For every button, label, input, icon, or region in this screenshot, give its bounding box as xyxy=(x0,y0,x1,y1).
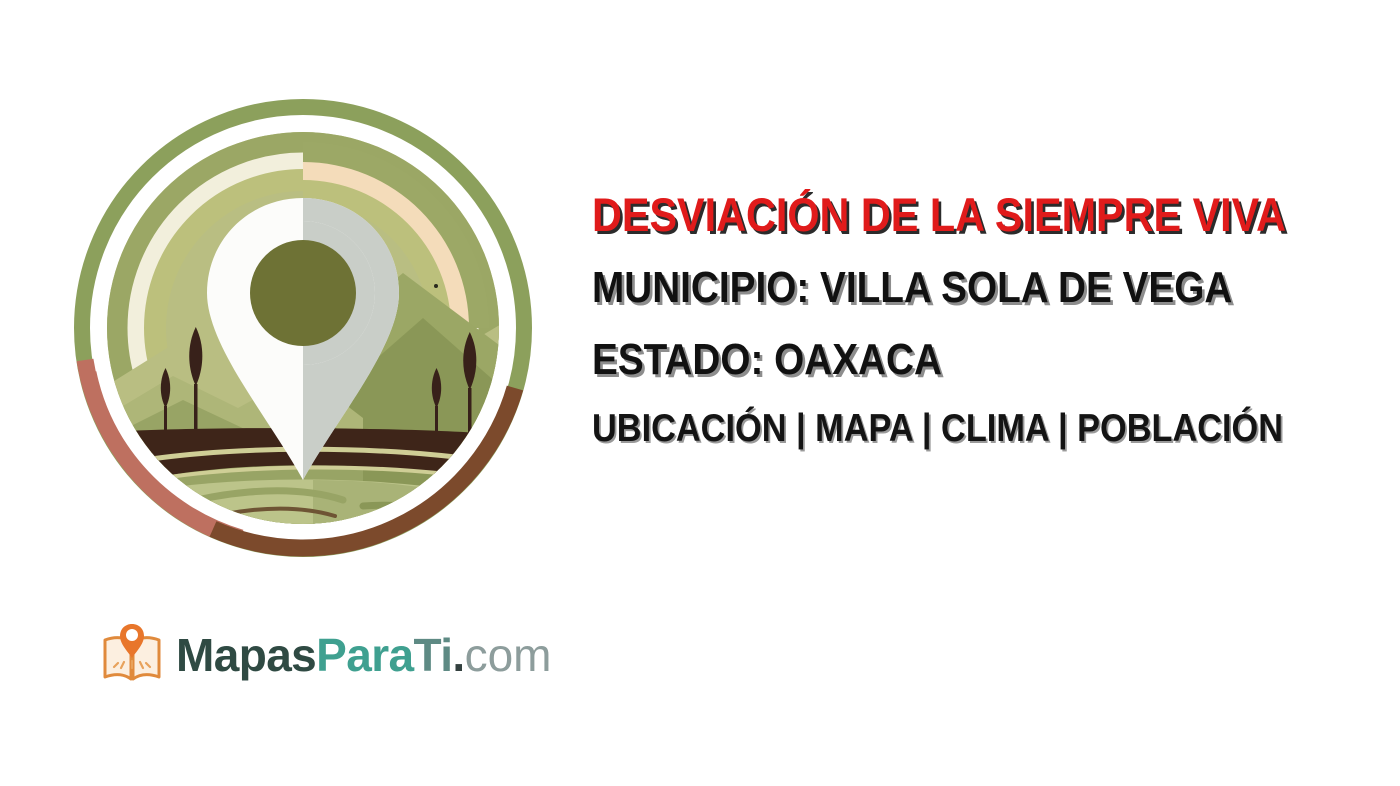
page-root: MapasParaTi.com DESVIACIÓN DE LA SIEMPRE… xyxy=(0,0,1400,786)
estado-line: ESTADO: OAXACA xyxy=(592,333,1305,387)
municipio-line: MUNICIPIO: VILLA SOLA DE VEGA xyxy=(592,261,1305,315)
brand-wordmark: MapasParaTi.com xyxy=(176,632,551,678)
info-text-block: DESVIACIÓN DE LA SIEMPRE VIVA MUNICIPIO:… xyxy=(592,186,1400,453)
map-pin-landscape-emblem xyxy=(63,88,543,568)
nav-links-line[interactable]: UBICACIÓN | MAPA | CLIMA | POBLACIÓN xyxy=(592,405,1305,453)
brand-word-dot: . xyxy=(452,629,464,681)
page-title: DESVIACIÓN DE LA SIEMPRE VIVA xyxy=(592,186,1305,244)
emblem-logo xyxy=(63,88,543,568)
brand-logo[interactable]: MapasParaTi.com xyxy=(100,620,551,690)
brand-word-mapas: Mapas xyxy=(176,629,316,681)
brand-word-para: Para xyxy=(316,629,413,681)
open-book-pin-icon xyxy=(100,620,164,690)
brand-word-ti: Ti xyxy=(414,629,453,681)
brand-word-com: com xyxy=(465,629,552,681)
